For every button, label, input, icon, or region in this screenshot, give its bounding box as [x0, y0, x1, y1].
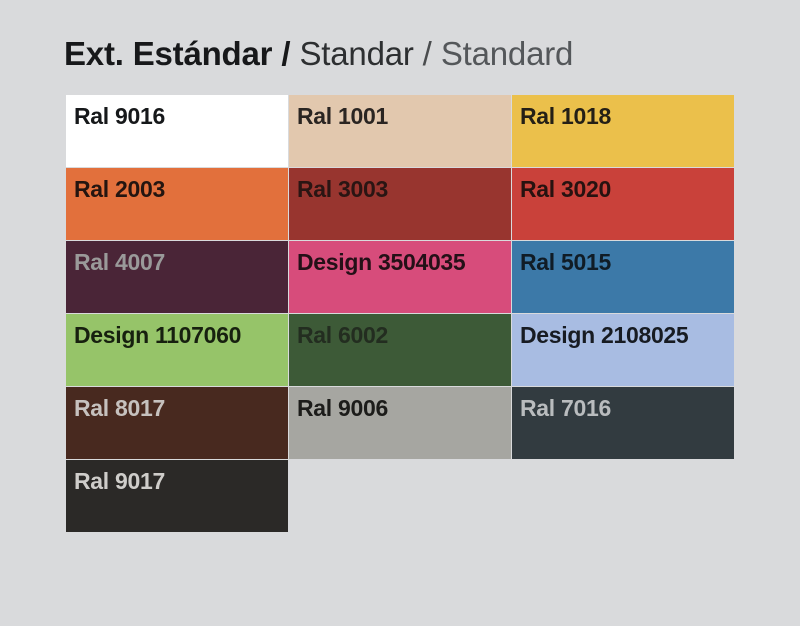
swatch-label: Ral 9017: [74, 468, 165, 494]
title-separator-2: /: [414, 35, 441, 73]
swatch-label: Ral 1018: [520, 103, 611, 129]
color-swatch[interactable]: Ral 5015: [512, 241, 734, 313]
swatch-label: Ral 5015: [520, 249, 611, 275]
swatch-label: Ral 7016: [520, 395, 611, 421]
swatch-label: Ral 3020: [520, 176, 611, 202]
swatch-row: Design 1107060Ral 6002Design 2108025: [66, 314, 734, 386]
color-swatch[interactable]: Design 1107060: [66, 314, 288, 386]
swatch-row: Ral 2003Ral 3003Ral 3020: [66, 168, 734, 240]
color-swatch[interactable]: Ral 9016: [66, 95, 288, 167]
swatch-label: Ral 4007: [74, 249, 165, 275]
color-swatch[interactable]: Ral 1018: [512, 95, 734, 167]
swatch-row: Ral 9016Ral 1001Ral 1018: [66, 95, 734, 167]
swatch-grid: Ral 9016Ral 1001Ral 1018Ral 2003Ral 3003…: [66, 95, 734, 532]
color-swatch[interactable]: Ral 3003: [289, 168, 511, 240]
color-swatch[interactable]: Design 3504035: [289, 241, 511, 313]
swatch-label: Ral 3003: [297, 176, 388, 202]
swatch-row: Ral 9017: [66, 460, 734, 532]
color-swatch[interactable]: Ral 8017: [66, 387, 288, 459]
color-swatch[interactable]: Ral 7016: [512, 387, 734, 459]
swatch-row: Ral 8017Ral 9006Ral 7016: [66, 387, 734, 459]
color-swatch[interactable]: Ral 2003: [66, 168, 288, 240]
swatch-label: Ral 6002: [297, 322, 388, 348]
swatch-row: Ral 4007Design 3504035Ral 5015: [66, 241, 734, 313]
swatch-label: Ral 2003: [74, 176, 165, 202]
swatch-label: Design 3504035: [297, 249, 465, 275]
swatch-label: Design 2108025: [520, 322, 688, 348]
color-swatch[interactable]: Ral 3020: [512, 168, 734, 240]
title-separator-1: /: [272, 35, 299, 73]
color-swatch[interactable]: Ral 4007: [66, 241, 288, 313]
color-swatch[interactable]: Ral 1001: [289, 95, 511, 167]
title-segment-fr: Standar: [299, 34, 413, 74]
color-swatch[interactable]: Ral 9017: [66, 460, 288, 532]
color-swatch[interactable]: Ral 6002: [289, 314, 511, 386]
swatch-label: Design 1107060: [74, 322, 241, 348]
swatch-label: Ral 8017: [74, 395, 165, 421]
swatch-label: Ral 1001: [297, 103, 388, 129]
color-swatch[interactable]: Design 2108025: [512, 314, 734, 386]
swatch-label: Ral 9006: [297, 395, 388, 421]
color-swatch[interactable]: Ral 9006: [289, 387, 511, 459]
swatch-label: Ral 9016: [74, 103, 165, 129]
title-segment-en: Standard: [441, 34, 573, 74]
swatch-placeholder: [289, 460, 511, 532]
title-segment-es: Ext. Estándar: [64, 34, 272, 74]
page-title: Ext. Estándar / Standar / Standard: [64, 34, 573, 74]
swatch-placeholder: [511, 460, 733, 532]
color-swatch-page: Ext. Estándar / Standar / Standard Ral 9…: [0, 0, 800, 626]
